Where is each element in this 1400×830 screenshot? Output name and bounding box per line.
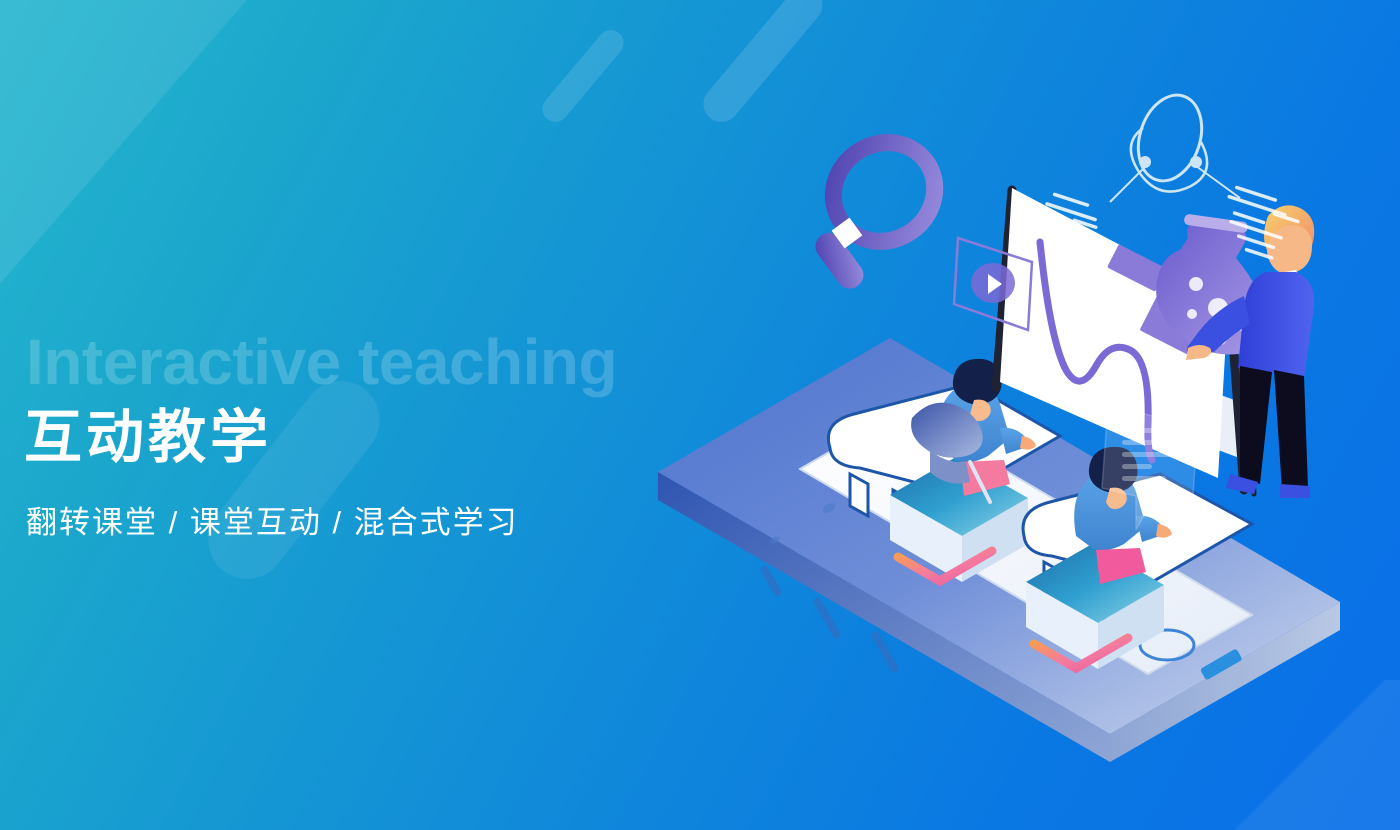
magnifier — [810, 123, 954, 294]
teacher-shoe-right — [1280, 484, 1310, 498]
teacher-leg-right — [1274, 370, 1308, 490]
decorative-diagonal-streak-1 — [537, 25, 629, 128]
promo-banner: Interactive teaching 互动教学 翻转课堂 / 课堂互动 / … — [0, 0, 1400, 830]
page-subtitle: 翻转课堂 / 课堂互动 / 混合式学习 — [26, 497, 519, 542]
lasso-annotation — [1110, 87, 1240, 202]
illustration — [640, 70, 1380, 770]
page-title: 互动教学 — [24, 408, 272, 469]
ghost-headline: Interactive teaching — [26, 330, 617, 394]
decorative-diagonal-bar-medium — [192, 365, 395, 594]
teacher-jacket — [1238, 272, 1314, 378]
teacher-leg-left — [1240, 366, 1272, 484]
